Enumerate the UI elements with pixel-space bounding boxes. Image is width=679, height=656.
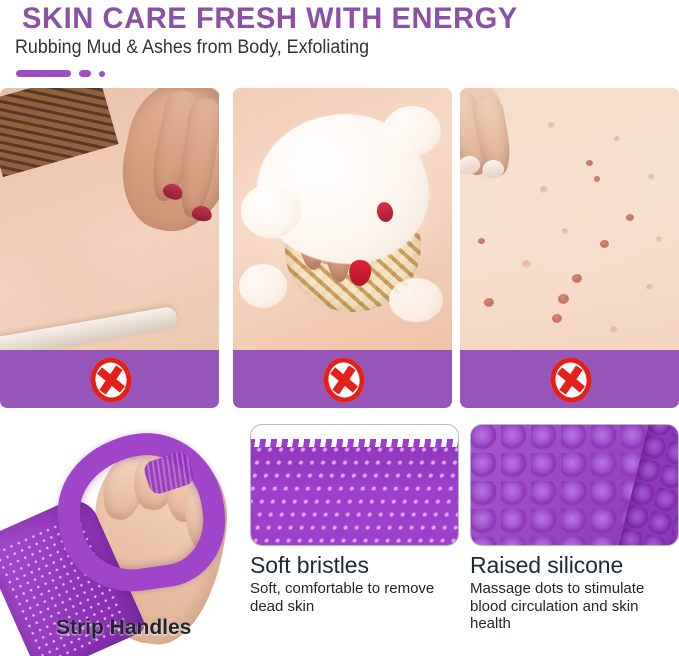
acne-spot (540, 186, 548, 193)
acne-spot (484, 298, 494, 307)
feature-title: Soft bristles (250, 552, 459, 579)
silicone-texture-swatch (470, 424, 679, 546)
acne-spot (522, 260, 531, 268)
prohibited-x-icon (549, 356, 591, 402)
problem-panel-3 (460, 88, 679, 408)
acne-spot (572, 274, 582, 283)
back-skin-photo (0, 88, 219, 350)
divider-short-bar (79, 70, 91, 77)
foam-bubble (389, 278, 443, 322)
feature-description: Soft, comfortable to remove dead skin (250, 580, 455, 615)
foam-bubble (241, 184, 301, 238)
bristle-field (250, 447, 459, 546)
page-title: SKIN CARE FRESH WITH ENERGY (22, 2, 518, 36)
prohibited-x-icon (322, 356, 364, 402)
acne-skin-photo (460, 88, 679, 350)
acne-spot (646, 284, 653, 290)
divider-dot (99, 71, 105, 77)
acne-spot (552, 314, 562, 323)
acne-spot (478, 238, 485, 244)
foam-bubble (239, 264, 287, 308)
bristle-texture-swatch (250, 424, 459, 546)
strip-handles-label: Strip Handles (56, 616, 191, 640)
acne-spot (586, 160, 593, 166)
acne-spot (594, 176, 600, 182)
problem-panel-row (0, 88, 679, 408)
foam-bubble (383, 106, 441, 156)
massage-dot-texture (471, 425, 678, 545)
bristle-texture (251, 425, 458, 545)
header: SKIN CARE FRESH WITH ENERGY Rubbing Mud … (0, 0, 679, 84)
acne-spot (562, 228, 568, 234)
texture-edge-highlight (613, 424, 679, 546)
feature-raised-silicone: Raised silicone Massage dots to stimulat… (470, 424, 679, 633)
acne-spot (548, 122, 555, 128)
feature-description: Massage dots to stimulate blood circulat… (470, 580, 675, 633)
problem-panel-2 (233, 88, 452, 408)
divider-long-bar (16, 70, 71, 77)
acne-spot (648, 174, 655, 180)
feature-soft-bristles: Soft bristles Soft, comfortable to remov… (250, 424, 459, 615)
problem-band-1 (0, 350, 219, 408)
decorative-divider (16, 70, 105, 77)
acne-spot (656, 236, 662, 242)
acne-spot (614, 136, 620, 142)
problem-panel-1 (0, 88, 219, 408)
feature-title: Raised silicone (470, 552, 679, 579)
acne-spot (626, 214, 634, 221)
problem-band-2 (233, 350, 452, 408)
acne-spot (558, 294, 569, 304)
acne-spot (600, 240, 609, 248)
prohibited-x-icon (89, 356, 131, 402)
loofah-foam-photo (233, 88, 452, 350)
page-subtitle: Rubbing Mud & Ashes from Body, Exfoliati… (15, 37, 369, 59)
acne-spot (610, 326, 618, 333)
problem-band-3 (460, 350, 679, 408)
